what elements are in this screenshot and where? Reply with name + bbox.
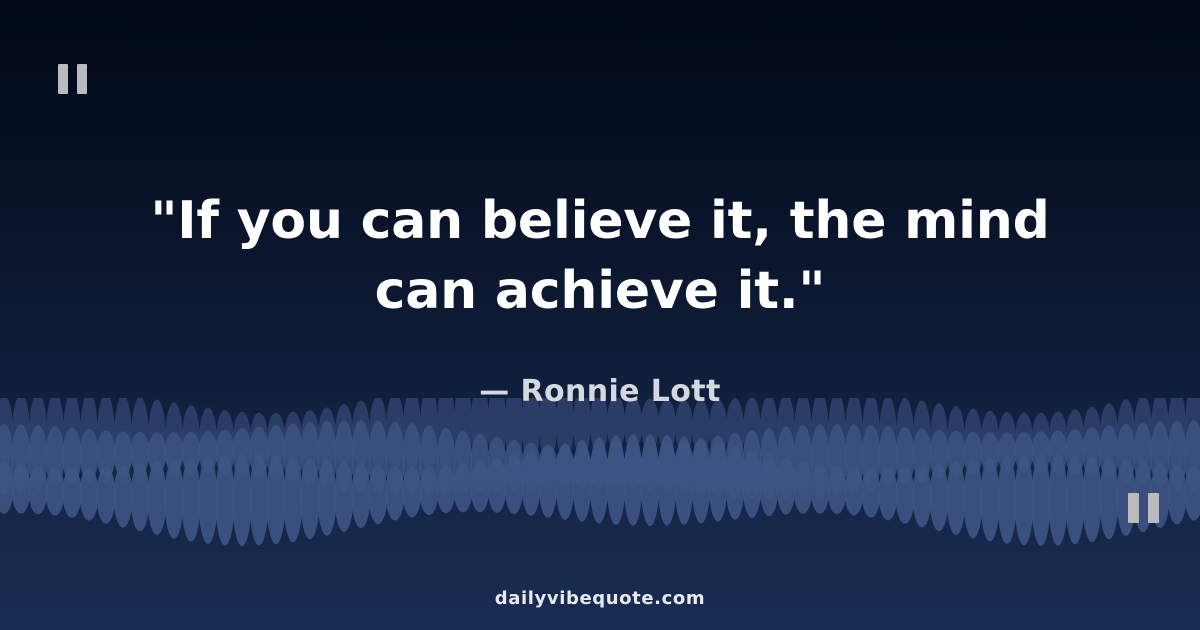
site-watermark: dailyvibequote.com [0, 588, 1200, 609]
quote-content: "If you can believe it, the mind can ach… [0, 0, 1200, 630]
author-attribution: — Ronnie Lott [479, 374, 721, 409]
quote-card: "If you can believe it, the mind can ach… [0, 0, 1200, 630]
quote-text: "If you can believe it, the mind can ach… [110, 186, 1090, 326]
